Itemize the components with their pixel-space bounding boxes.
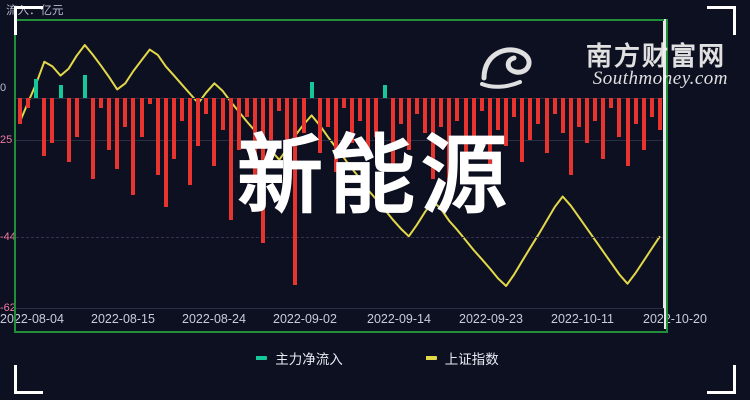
- x-tick-label: 2022-09-14: [367, 312, 431, 326]
- x-tick-label: 2022-09-23: [459, 312, 523, 326]
- gridline-h-0: [16, 98, 664, 99]
- gridline-h-3: [16, 308, 664, 309]
- bar: [180, 98, 184, 121]
- bar: [148, 98, 152, 104]
- bar: [326, 98, 330, 127]
- bar: [342, 98, 346, 108]
- y-tick-0: 0: [0, 82, 6, 94]
- x-tick-label: 2022-10-11: [551, 312, 614, 326]
- bar: [553, 98, 557, 114]
- bar: [496, 98, 500, 130]
- bar: [455, 98, 459, 121]
- bar: [18, 98, 22, 124]
- bar: [34, 79, 38, 98]
- bar: [399, 98, 403, 124]
- bar: [609, 98, 613, 108]
- bar: [536, 98, 540, 124]
- bar: [277, 98, 281, 111]
- legend-main-net-inflow[interactable]: 主力净流入: [251, 348, 343, 368]
- frame-corner-top-left: [14, 6, 43, 35]
- x-tick-label: 2022-10-20: [643, 312, 707, 326]
- x-tick-label: 2022-08-04: [0, 312, 64, 326]
- frame-corner-bottom-left: [14, 365, 43, 394]
- bar: [123, 98, 127, 127]
- bar: [593, 98, 597, 121]
- watermark-en-text: Southmoney.com: [593, 68, 728, 90]
- frame-corner-bottom-right: [707, 365, 736, 394]
- x-tick-label: 2022-09-02: [273, 312, 337, 326]
- legend-sse-index[interactable]: 上证指数: [421, 348, 499, 368]
- bar: [480, 98, 484, 111]
- watermark: 南方财富网 Southmoney.com: [482, 36, 732, 94]
- frame-corner-top-right: [707, 6, 736, 35]
- bar: [658, 98, 662, 130]
- x-tick-label: 2022-08-15: [91, 312, 155, 326]
- bar: [577, 98, 581, 127]
- bar: [245, 98, 249, 117]
- bar: [204, 98, 208, 114]
- bar: [650, 98, 654, 117]
- legend-swatch-icon: [421, 356, 437, 360]
- chart-screenshot: 流入：亿元 0 25 -44 -62 2022-08-042022-08-152…: [0, 0, 750, 400]
- x-axis: 2022-08-042022-08-152022-08-242022-09-02…: [0, 312, 750, 334]
- swirl-logo-icon: [476, 38, 546, 92]
- bar: [26, 98, 30, 108]
- bar: [383, 85, 387, 98]
- bar: [415, 98, 419, 114]
- bar: [439, 98, 443, 127]
- page-title: 新能源: [0, 128, 750, 224]
- bar: [358, 98, 362, 121]
- bar: [512, 98, 516, 117]
- bar: [221, 98, 225, 130]
- bar: [99, 98, 103, 108]
- x-tick-label: 2022-08-24: [182, 312, 246, 326]
- bar: [59, 85, 63, 98]
- bar: [310, 82, 314, 98]
- bar: [83, 75, 87, 98]
- legend-swatch-icon: [251, 356, 267, 360]
- legend-label: 上证指数: [445, 348, 499, 368]
- chart-legend: 主力净流入上证指数: [0, 344, 750, 372]
- gridline-h-2: [16, 237, 664, 239]
- legend-label: 主力净流入: [275, 348, 343, 368]
- chart-panel: 流入：亿元 0 25 -44 -62 2022-08-042022-08-152…: [0, 0, 750, 340]
- y-tick-44: -44: [0, 231, 16, 243]
- bar: [634, 98, 638, 124]
